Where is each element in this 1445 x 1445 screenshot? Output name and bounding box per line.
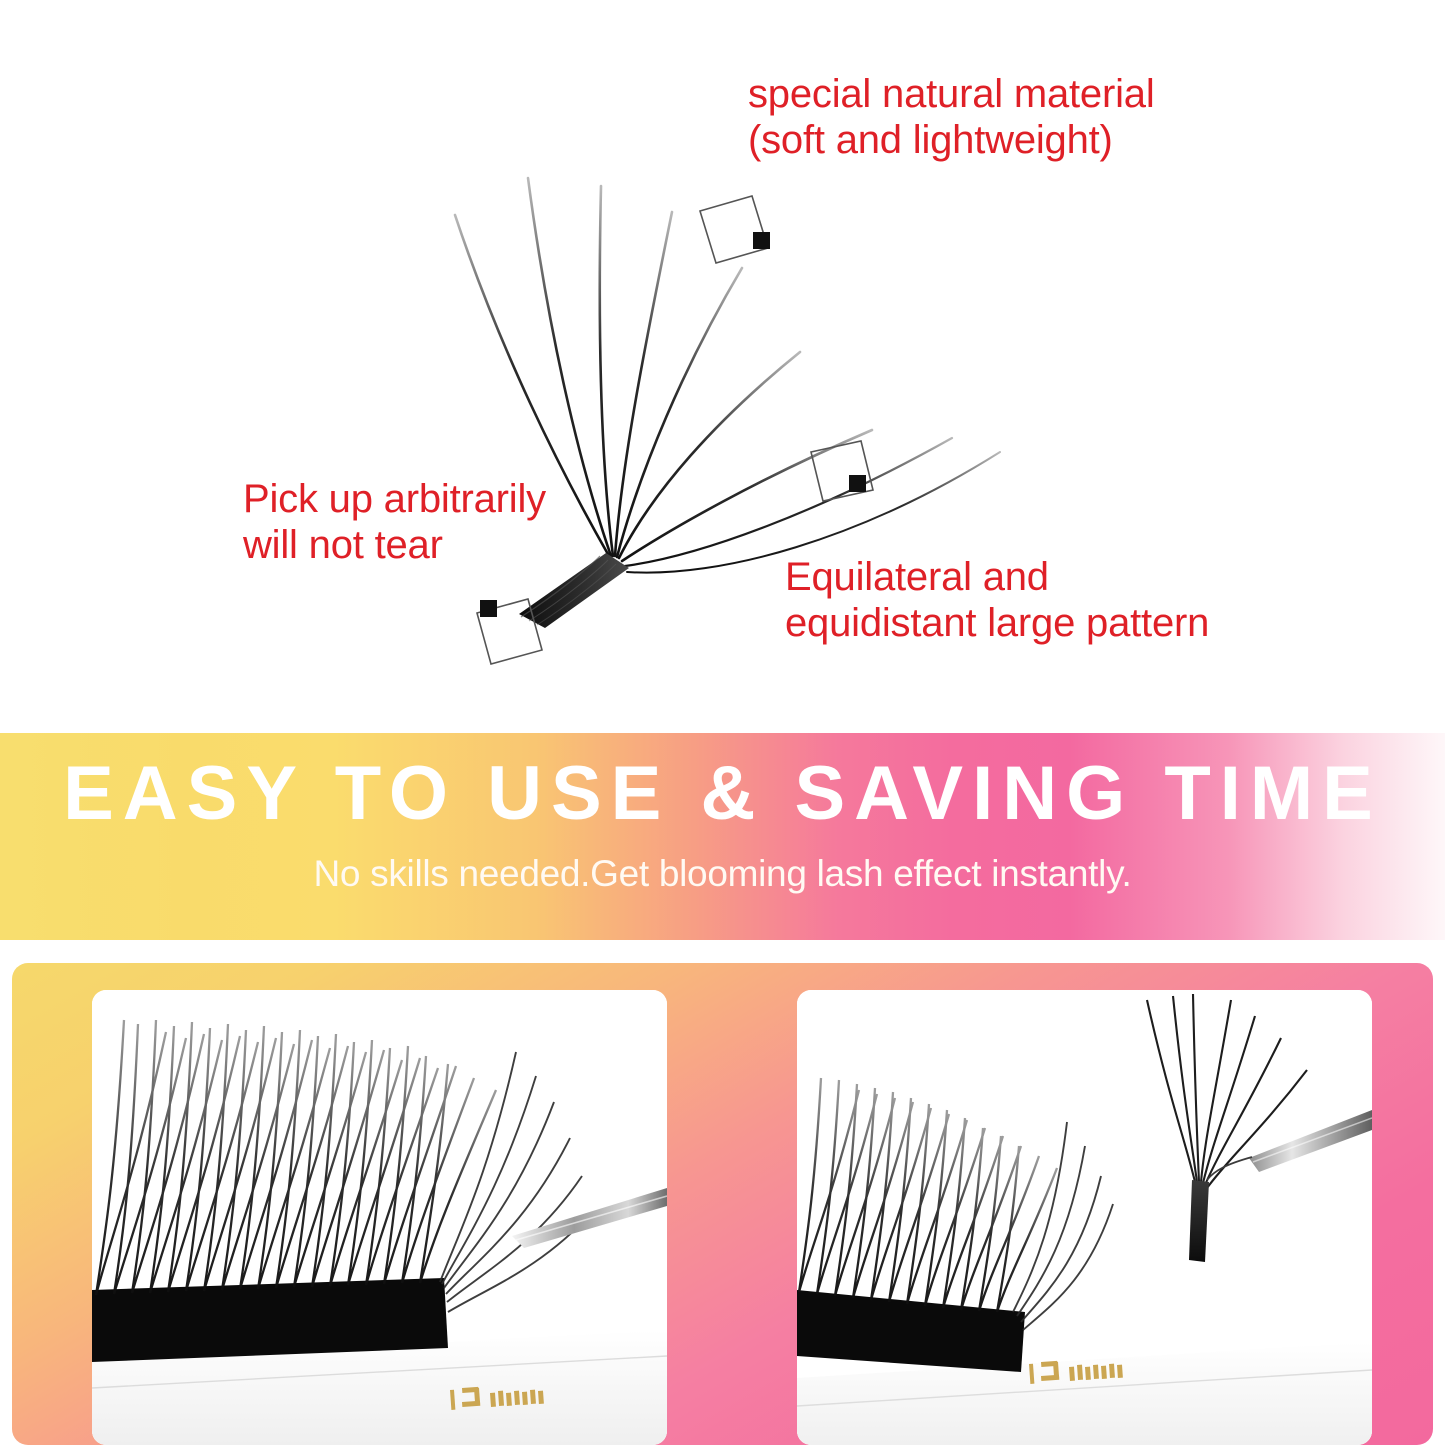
- lash-fan-diagram: [0, 0, 1445, 733]
- square-callout-marker: [700, 196, 770, 263]
- square-callout-marker: [811, 441, 873, 501]
- banner-title: EASY TO USE & SAVING TIME: [0, 756, 1445, 832]
- callout-pick-up-arbitrarily: Pick up arbitrarily will not tear: [243, 477, 546, 568]
- lash-fan-pickup-photo: [797, 990, 1372, 1445]
- photo-lash-fan-pickup: [797, 990, 1372, 1445]
- photo-gallery-frame: [12, 963, 1433, 1445]
- headline-banner: EASY TO USE & SAVING TIME No skills need…: [0, 733, 1445, 940]
- banner-subtitle: No skills needed.Get blooming lash effec…: [0, 855, 1445, 892]
- photo-lash-tray-closeup: [92, 990, 667, 1445]
- callout-special-natural-material: special natural material (soft and light…: [748, 72, 1155, 163]
- lash-tray-photo: [92, 990, 667, 1445]
- hero-section: special natural material (soft and light…: [0, 0, 1445, 733]
- callout-equilateral-equidistant: Equilateral and equidistant large patter…: [785, 555, 1209, 646]
